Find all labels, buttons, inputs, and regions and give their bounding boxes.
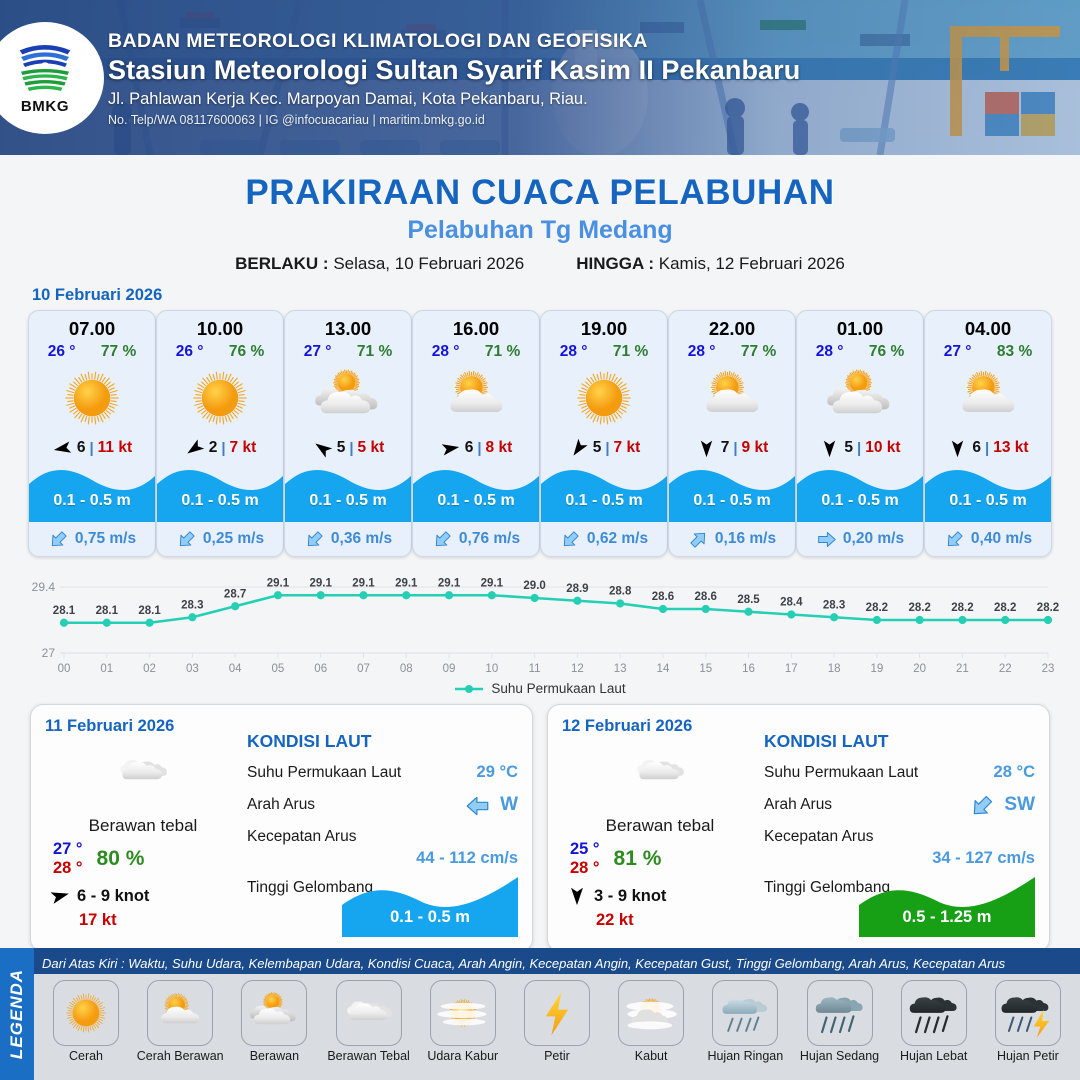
card-wave-height: 0.1 - 0.5 m bbox=[29, 492, 155, 510]
wind-separator: | bbox=[857, 440, 861, 457]
daily-temp-hum-row: 27 ° 28 ° 80 % bbox=[45, 840, 241, 878]
legend-item: Berawan Tebal bbox=[323, 980, 415, 1064]
sst-label: Suhu Permukaan Laut bbox=[764, 764, 918, 782]
wind-separator: | bbox=[733, 440, 737, 457]
card-temperature: 28 ° bbox=[560, 343, 588, 361]
svg-text:22: 22 bbox=[999, 663, 1012, 675]
legend-berawan-tebal-icon bbox=[336, 980, 402, 1046]
card-temperature: 26 ° bbox=[48, 343, 76, 361]
card-wave-height: 0.1 - 0.5 m bbox=[925, 492, 1051, 510]
sst-value: 29 °C bbox=[477, 763, 518, 782]
card-current-speed: 0,40 m/s bbox=[971, 530, 1032, 548]
wind-direction-arrow-icon bbox=[819, 438, 840, 459]
card-current-row: 0,16 m/s bbox=[669, 522, 795, 556]
legend-item: Hujan Sedang bbox=[794, 980, 886, 1064]
daily-sea-column: KONDISI LAUT Suhu Permukaan Laut 28 °C A… bbox=[758, 717, 1035, 939]
agency-name: BADAN METEOROLOGI KLIMATOLOGI DAN GEOFIS… bbox=[108, 30, 800, 53]
sst-label: Suhu Permukaan Laut bbox=[247, 764, 401, 782]
daily-date: 12 Februari 2026 bbox=[562, 717, 758, 736]
card-weather-berawan-icon bbox=[285, 362, 411, 434]
card-current-row: 0,20 m/s bbox=[797, 522, 923, 556]
card-wave-block: 0.1 - 0.5 m bbox=[29, 462, 155, 522]
legend-item-label: Kabut bbox=[635, 1050, 668, 1064]
legend-tab-label: LEGENDA bbox=[7, 969, 27, 1059]
svg-text:28.3: 28.3 bbox=[181, 599, 203, 611]
card-wind-row: 5 | 5 kt bbox=[285, 434, 411, 462]
card-wave-block: 0.1 - 0.5 m bbox=[157, 462, 283, 522]
svg-text:10: 10 bbox=[485, 663, 498, 675]
card-temp-hum-row: 27 ° 83 % bbox=[925, 340, 1051, 361]
card-humidity: 76 % bbox=[229, 343, 264, 361]
daily-current-direction-arrow-icon bbox=[969, 793, 999, 817]
card-time: 10.00 bbox=[157, 311, 283, 340]
svg-text:03: 03 bbox=[186, 663, 199, 675]
legend-item: Petir bbox=[511, 980, 603, 1064]
svg-text:28.1: 28.1 bbox=[53, 605, 76, 617]
legend-kabut-icon bbox=[618, 980, 684, 1046]
daily-temp-col: 27 ° 28 ° bbox=[53, 840, 83, 878]
card-current-speed: 0,36 m/s bbox=[331, 530, 392, 548]
legend-hujan-lebat-icon bbox=[901, 980, 967, 1046]
daily-summary-panel: 11 Februari 2026 Berawan tebal 27 ° 28 ° bbox=[30, 704, 533, 952]
hourly-card: 10.00 26 ° 76 % 2 | 7 kt bbox=[156, 310, 284, 557]
daily-temp-col: 25 ° 28 ° bbox=[570, 840, 600, 878]
daily-wave-block: 0.5 - 1.25 m bbox=[859, 871, 1035, 937]
card-wave-block: 0.1 - 0.5 m bbox=[669, 462, 795, 522]
card-wave-height: 0.1 - 0.5 m bbox=[541, 492, 667, 510]
bmkg-logo-text: BMKG bbox=[21, 98, 69, 115]
legend-hujan-sedang-icon bbox=[807, 980, 873, 1046]
daily-wind-gust: 22 kt bbox=[562, 911, 758, 930]
legend-cerah-icon bbox=[53, 980, 119, 1046]
sea-conditions-title: KONDISI LAUT bbox=[247, 731, 518, 752]
wind-separator: | bbox=[985, 440, 989, 457]
svg-text:18: 18 bbox=[828, 663, 841, 675]
card-wind-scale: 6 bbox=[972, 439, 981, 457]
legend-item-label: Hujan Petir bbox=[997, 1050, 1059, 1064]
card-humidity: 71 % bbox=[613, 343, 648, 361]
legend-items: Cerah Cerah Berawan bbox=[34, 980, 1080, 1064]
legend-item-label: Hujan Lebat bbox=[900, 1050, 967, 1064]
card-temperature: 27 ° bbox=[944, 343, 972, 361]
svg-text:17: 17 bbox=[785, 663, 798, 675]
card-wave-height: 0.1 - 0.5 m bbox=[285, 492, 411, 510]
legend-item-label: Cerah bbox=[69, 1050, 103, 1064]
current-speed-label: Kecepatan Arus bbox=[247, 828, 356, 846]
sea-row-current-dir: Arah Arus W bbox=[247, 793, 518, 817]
hourly-card: 19.00 28 ° 71 % 5 | 7 kt bbox=[540, 310, 668, 557]
legend-udara-kabur-icon bbox=[430, 980, 496, 1046]
sea-row-current-speed: Kecepatan Arus bbox=[764, 828, 1035, 846]
legend-item-label: Udara Kabur bbox=[427, 1050, 498, 1064]
sea-row-sst: Suhu Permukaan Laut 28 °C bbox=[764, 763, 1035, 782]
current-direction-arrow-icon bbox=[816, 529, 837, 550]
wind-direction-arrow-icon bbox=[696, 438, 717, 459]
card-wind-row: 5 | 7 kt bbox=[541, 434, 667, 462]
card-wave-block: 0.1 - 0.5 m bbox=[541, 462, 667, 522]
card-current-speed: 0,20 m/s bbox=[843, 530, 904, 548]
card-wind-gust: 7 kt bbox=[230, 439, 257, 457]
card-temperature: 27 ° bbox=[304, 343, 332, 361]
berlaku-value: Selasa, 10 Februari 2026 bbox=[333, 254, 524, 273]
card-wind-scale: 6 bbox=[77, 439, 86, 457]
current-direction-arrow-icon bbox=[48, 529, 69, 550]
hingga-group: HINGGA : Kamis, 12 Februari 2026 bbox=[576, 254, 845, 274]
svg-text:29.4: 29.4 bbox=[32, 580, 56, 594]
current-direction-label: Arah Arus bbox=[764, 796, 832, 814]
legend-note: Dari Atas Kiri : Waktu, Suhu Udara, Kele… bbox=[42, 956, 1005, 971]
card-wind-row: 2 | 7 kt bbox=[157, 434, 283, 462]
current-direction-arrow-icon bbox=[432, 529, 453, 550]
legend-hujan-ringan-icon bbox=[712, 980, 778, 1046]
svg-text:06: 06 bbox=[314, 663, 327, 675]
current-direction-arrow-icon bbox=[176, 529, 197, 550]
card-weather-cerah-berawan-icon bbox=[413, 362, 539, 434]
hourly-card: 16.00 28 ° 71 % 6 | 8 kt bbox=[412, 310, 540, 557]
card-wind-scale: 5 bbox=[337, 439, 346, 457]
daily-wave-block: 0.1 - 0.5 m bbox=[342, 871, 518, 937]
card-time: 19.00 bbox=[541, 311, 667, 340]
hingga-label: HINGGA : bbox=[576, 254, 654, 273]
card-time: 16.00 bbox=[413, 311, 539, 340]
daily-wave-height: 0.1 - 0.5 m bbox=[342, 908, 518, 927]
svg-text:29.1: 29.1 bbox=[395, 577, 418, 589]
svg-text:28.4: 28.4 bbox=[780, 597, 803, 609]
card-temp-hum-row: 28 ° 71 % bbox=[541, 340, 667, 361]
card-wave-height: 0.1 - 0.5 m bbox=[157, 492, 283, 510]
card-current-speed: 0,16 m/s bbox=[715, 530, 776, 548]
svg-text:20: 20 bbox=[913, 663, 926, 675]
card-time: 04.00 bbox=[925, 311, 1051, 340]
daily-temp-hum-row: 25 ° 28 ° 81 % bbox=[562, 840, 758, 878]
hourly-card: 07.00 26 ° 77 % 6 | 11 kt bbox=[28, 310, 156, 557]
legend-item-label: Berawan bbox=[250, 1050, 299, 1064]
daily-wind-range: 6 - 9 knot bbox=[77, 887, 149, 906]
berlaku-label: BERLAKU : bbox=[235, 254, 329, 273]
svg-text:14: 14 bbox=[657, 663, 670, 675]
card-weather-cerah-icon bbox=[157, 362, 283, 434]
daily-left-column: 12 Februari 2026 Berawan tebal 25 ° 28 ° bbox=[562, 717, 758, 939]
wind-separator: | bbox=[89, 440, 93, 457]
legend-tab: LEGENDA bbox=[0, 948, 34, 1080]
svg-text:19: 19 bbox=[870, 663, 883, 675]
sea-row-current-speed: Kecepatan Arus bbox=[247, 828, 518, 846]
daily-weather-berawan-tebal-icon bbox=[562, 742, 758, 802]
card-current-speed: 0,25 m/s bbox=[203, 530, 264, 548]
card-temperature: 26 ° bbox=[176, 343, 204, 361]
legend-hujan-petir-icon bbox=[995, 980, 1061, 1046]
daily-wind-direction-arrow-icon bbox=[566, 885, 588, 907]
sst-chart-svg: 29.4270001020304050607080910111213141516… bbox=[18, 571, 1062, 679]
daily-current-direction-arrow-icon bbox=[465, 793, 495, 817]
card-weather-cerah-icon bbox=[29, 362, 155, 434]
svg-text:15: 15 bbox=[699, 663, 712, 675]
daily-sea-column: KONDISI LAUT Suhu Permukaan Laut 29 °C A… bbox=[241, 717, 518, 939]
hourly-forecast-row: 07.00 26 ° 77 % 6 | 11 kt bbox=[0, 310, 1080, 557]
current-direction-value: SW bbox=[1004, 794, 1035, 816]
svg-text:23: 23 bbox=[1042, 663, 1055, 675]
card-wave-block: 0.1 - 0.5 m bbox=[797, 462, 923, 522]
card-weather-cerah-icon bbox=[541, 362, 667, 434]
page-title: PRAKIRAAN CUACA PELABUHAN bbox=[0, 173, 1080, 213]
bmkg-logo-mark bbox=[11, 41, 79, 97]
legend-item-label: Hujan Ringan bbox=[707, 1050, 783, 1064]
svg-text:00: 00 bbox=[58, 663, 71, 675]
card-temp-hum-row: 26 ° 77 % bbox=[29, 340, 155, 361]
legend-strip: LEGENDA Dari Atas Kiri : Waktu, Suhu Uda… bbox=[0, 948, 1080, 1080]
card-wind-gust: 9 kt bbox=[742, 439, 769, 457]
svg-text:13: 13 bbox=[614, 663, 627, 675]
svg-text:28.1: 28.1 bbox=[96, 605, 119, 617]
daily-wind-row: 3 - 9 knot bbox=[562, 885, 758, 907]
station-name: Stasiun Meteorologi Sultan Syarif Kasim … bbox=[108, 55, 800, 86]
daily-wind-direction-arrow-icon bbox=[49, 885, 71, 907]
svg-text:07: 07 bbox=[357, 663, 370, 675]
card-humidity: 83 % bbox=[997, 343, 1032, 361]
wind-direction-arrow-icon bbox=[52, 438, 73, 459]
berlaku-group: BERLAKU : Selasa, 10 Februari 2026 bbox=[235, 254, 524, 274]
svg-text:29.1: 29.1 bbox=[352, 577, 375, 589]
hourly-date-label: 10 Februari 2026 bbox=[32, 286, 1080, 305]
card-humidity: 71 % bbox=[485, 343, 520, 361]
daily-summary-panel: 12 Februari 2026 Berawan tebal 25 ° 28 ° bbox=[547, 704, 1050, 952]
card-humidity: 76 % bbox=[869, 343, 904, 361]
card-humidity: 77 % bbox=[101, 343, 136, 361]
current-direction-label: Arah Arus bbox=[247, 796, 315, 814]
card-wave-block: 0.1 - 0.5 m bbox=[285, 462, 411, 522]
svg-text:29.1: 29.1 bbox=[310, 577, 333, 589]
svg-text:28.8: 28.8 bbox=[609, 586, 632, 598]
wind-separator: | bbox=[221, 440, 225, 457]
card-wind-gust: 5 kt bbox=[358, 439, 385, 457]
legend-item: Udara Kabur bbox=[417, 980, 509, 1064]
hourly-card: 04.00 27 ° 83 % 6 | 13 kt bbox=[924, 310, 1052, 557]
legend-item: Hujan Petir bbox=[982, 980, 1074, 1064]
svg-text:28.2: 28.2 bbox=[951, 602, 973, 614]
card-current-speed: 0,76 m/s bbox=[459, 530, 520, 548]
current-direction-arrow-icon bbox=[304, 529, 325, 550]
svg-text:28.2: 28.2 bbox=[1037, 602, 1059, 614]
current-direction-arrow-icon bbox=[944, 529, 965, 550]
legend-line-marker-icon bbox=[454, 683, 484, 695]
card-temp-hum-row: 28 ° 76 % bbox=[797, 340, 923, 361]
card-weather-cerah-berawan-icon bbox=[925, 362, 1051, 434]
svg-text:16: 16 bbox=[742, 663, 755, 675]
card-current-row: 0,36 m/s bbox=[285, 522, 411, 556]
current-direction-arrow-icon bbox=[560, 529, 581, 550]
daily-summary-row: 11 Februari 2026 Berawan tebal 27 ° 28 ° bbox=[0, 696, 1080, 952]
card-wind-row: 6 | 8 kt bbox=[413, 434, 539, 462]
daily-wind-range: 3 - 9 knot bbox=[594, 887, 666, 906]
validity-row: BERLAKU : Selasa, 10 Februari 2026 HINGG… bbox=[0, 254, 1080, 274]
sst-value: 28 °C bbox=[994, 763, 1035, 782]
card-wind-gust: 10 kt bbox=[865, 439, 900, 457]
daily-temp-min: 27 ° bbox=[53, 840, 83, 859]
card-temp-hum-row: 27 ° 71 % bbox=[285, 340, 411, 361]
legend-item: Cerah bbox=[40, 980, 132, 1064]
header-text-block: BADAN METEOROLOGI KLIMATOLOGI DAN GEOFIS… bbox=[108, 30, 800, 127]
card-weather-cerah-berawan-icon bbox=[669, 362, 795, 434]
svg-text:28.6: 28.6 bbox=[652, 591, 674, 603]
sea-row-current-dir: Arah Arus SW bbox=[764, 793, 1035, 817]
wind-separator: | bbox=[477, 440, 481, 457]
daily-temp-min: 25 ° bbox=[570, 840, 600, 859]
svg-text:12: 12 bbox=[571, 663, 584, 675]
card-wind-row: 7 | 9 kt bbox=[669, 434, 795, 462]
current-direction-arrow-icon bbox=[688, 529, 709, 550]
svg-text:28.7: 28.7 bbox=[224, 588, 246, 600]
svg-text:05: 05 bbox=[272, 663, 285, 675]
daily-condition: Berawan tebal bbox=[562, 816, 758, 836]
card-wind-gust: 11 kt bbox=[98, 439, 132, 457]
card-current-row: 0,40 m/s bbox=[925, 522, 1051, 556]
card-humidity: 77 % bbox=[741, 343, 776, 361]
legend-item: Hujan Lebat bbox=[888, 980, 980, 1064]
current-speed-value: 44 - 112 cm/s bbox=[247, 849, 518, 868]
card-wave-height: 0.1 - 0.5 m bbox=[413, 492, 539, 510]
svg-text:02: 02 bbox=[143, 663, 156, 675]
card-wind-scale: 2 bbox=[209, 439, 218, 457]
legend-item: Cerah Berawan bbox=[134, 980, 226, 1064]
svg-text:28.5: 28.5 bbox=[737, 594, 760, 606]
card-humidity: 71 % bbox=[357, 343, 392, 361]
card-time: 01.00 bbox=[797, 311, 923, 340]
legend-item-label: Berawan Tebal bbox=[327, 1050, 409, 1064]
card-temp-hum-row: 26 ° 76 % bbox=[157, 340, 283, 361]
wind-direction-arrow-icon bbox=[568, 438, 589, 459]
card-wind-gust: 8 kt bbox=[486, 439, 513, 457]
svg-text:01: 01 bbox=[100, 663, 113, 675]
daily-temp-max: 28 ° bbox=[570, 859, 600, 878]
card-temperature: 28 ° bbox=[688, 343, 716, 361]
card-wave-height: 0.1 - 0.5 m bbox=[797, 492, 923, 510]
chart-legend-label: Suhu Permukaan Laut bbox=[491, 681, 625, 696]
legend-cerah-berawan-icon bbox=[147, 980, 213, 1046]
svg-text:28.6: 28.6 bbox=[695, 591, 717, 603]
daily-wave-shape-icon bbox=[342, 871, 518, 937]
hourly-card: 22.00 28 ° 77 % 7 | 9 kt bbox=[668, 310, 796, 557]
card-wave-block: 0.1 - 0.5 m bbox=[413, 462, 539, 522]
card-current-speed: 0,75 m/s bbox=[75, 530, 136, 548]
current-speed-value: 34 - 127 cm/s bbox=[764, 849, 1035, 868]
card-temp-hum-row: 28 ° 77 % bbox=[669, 340, 795, 361]
card-wave-block: 0.1 - 0.5 m bbox=[925, 462, 1051, 522]
daily-wind-row: 6 - 9 knot bbox=[45, 885, 241, 907]
daily-condition: Berawan tebal bbox=[45, 816, 241, 836]
page-subtitle: Pelabuhan Tg Medang bbox=[0, 216, 1080, 245]
daily-wave-shape-icon bbox=[859, 871, 1035, 937]
daily-wind-gust: 17 kt bbox=[45, 911, 241, 930]
svg-text:21: 21 bbox=[956, 663, 969, 675]
card-wind-row: 5 | 10 kt bbox=[797, 434, 923, 462]
wind-direction-arrow-icon bbox=[184, 438, 205, 459]
card-time: 22.00 bbox=[669, 311, 795, 340]
sst-chart: 29.4270001020304050607080910111213141516… bbox=[18, 571, 1062, 679]
daily-humidity: 81 % bbox=[614, 847, 662, 871]
card-temp-hum-row: 28 ° 71 % bbox=[413, 340, 539, 361]
svg-text:27: 27 bbox=[42, 646, 56, 660]
current-direction-value: W bbox=[500, 794, 518, 816]
station-address: Jl. Pahlawan Kerja Kec. Marpoyan Damai, … bbox=[108, 90, 800, 109]
card-wind-gust: 7 kt bbox=[614, 439, 641, 457]
wind-direction-arrow-icon bbox=[312, 438, 333, 459]
daily-weather-berawan-tebal-icon bbox=[45, 742, 241, 802]
svg-text:29.1: 29.1 bbox=[438, 577, 461, 589]
card-wind-row: 6 | 11 kt bbox=[29, 434, 155, 462]
hourly-card: 13.00 27 ° 71 % 5 | 5 kt bbox=[284, 310, 412, 557]
card-wave-height: 0.1 - 0.5 m bbox=[669, 492, 795, 510]
legend-item-label: Petir bbox=[544, 1050, 570, 1064]
card-wind-scale: 5 bbox=[593, 439, 602, 457]
svg-text:28.2: 28.2 bbox=[908, 602, 930, 614]
legend-item: Berawan bbox=[228, 980, 320, 1064]
card-wind-scale: 7 bbox=[721, 439, 730, 457]
current-direction-value-group: SW bbox=[969, 793, 1035, 817]
daily-temp-max: 28 ° bbox=[53, 859, 83, 878]
card-weather-berawan-icon bbox=[797, 362, 923, 434]
card-current-row: 0,76 m/s bbox=[413, 522, 539, 556]
card-current-row: 0,25 m/s bbox=[157, 522, 283, 556]
wind-direction-arrow-icon bbox=[440, 438, 461, 459]
legend-item-label: Hujan Sedang bbox=[800, 1050, 879, 1064]
svg-text:28.2: 28.2 bbox=[866, 602, 888, 614]
svg-text:29.1: 29.1 bbox=[267, 577, 290, 589]
hingga-value: Kamis, 12 Februari 2026 bbox=[659, 254, 845, 273]
svg-text:08: 08 bbox=[400, 663, 413, 675]
card-wind-scale: 5 bbox=[844, 439, 853, 457]
wind-separator: | bbox=[605, 440, 609, 457]
wind-direction-arrow-icon bbox=[947, 438, 968, 459]
hourly-card: 01.00 28 ° 76 % 5 | 10 kt bbox=[796, 310, 924, 557]
svg-text:28.3: 28.3 bbox=[823, 599, 845, 611]
card-current-speed: 0,62 m/s bbox=[587, 530, 648, 548]
daily-humidity: 80 % bbox=[97, 847, 145, 871]
current-direction-value-group: W bbox=[465, 793, 518, 817]
card-temperature: 28 ° bbox=[432, 343, 460, 361]
sea-row-sst: Suhu Permukaan Laut 29 °C bbox=[247, 763, 518, 782]
daily-date: 11 Februari 2026 bbox=[45, 717, 241, 736]
svg-text:28.1: 28.1 bbox=[138, 605, 161, 617]
legend-berawan-icon bbox=[241, 980, 307, 1046]
legend-item-label: Cerah Berawan bbox=[137, 1050, 224, 1064]
legend-item: Hujan Ringan bbox=[699, 980, 791, 1064]
page-header: BMKG BADAN METEOROLOGI KLIMATOLOGI DAN G… bbox=[0, 0, 1080, 155]
card-current-row: 0,62 m/s bbox=[541, 522, 667, 556]
card-temperature: 28 ° bbox=[816, 343, 844, 361]
svg-text:29.1: 29.1 bbox=[481, 577, 504, 589]
station-contact: No. Telp/WA 08117600063 | IG @infocuacar… bbox=[108, 113, 800, 127]
legend-item: Kabut bbox=[605, 980, 697, 1064]
svg-text:11: 11 bbox=[529, 663, 541, 675]
svg-text:28.2: 28.2 bbox=[994, 602, 1016, 614]
svg-text:09: 09 bbox=[443, 663, 456, 675]
svg-text:29.0: 29.0 bbox=[523, 580, 545, 592]
current-speed-label: Kecepatan Arus bbox=[764, 828, 873, 846]
svg-text:28.9: 28.9 bbox=[566, 583, 588, 595]
title-block: PRAKIRAAN CUACA PELABUHAN Pelabuhan Tg M… bbox=[0, 173, 1080, 274]
legend-petir-icon bbox=[524, 980, 590, 1046]
card-time: 07.00 bbox=[29, 311, 155, 340]
card-current-row: 0,75 m/s bbox=[29, 522, 155, 556]
card-wind-scale: 6 bbox=[465, 439, 474, 457]
daily-wave-height: 0.5 - 1.25 m bbox=[859, 908, 1035, 927]
daily-left-column: 11 Februari 2026 Berawan tebal 27 ° 28 ° bbox=[45, 717, 241, 939]
wind-separator: | bbox=[349, 440, 353, 457]
card-wind-gust: 13 kt bbox=[993, 439, 1028, 457]
card-time: 13.00 bbox=[285, 311, 411, 340]
card-wind-row: 6 | 13 kt bbox=[925, 434, 1051, 462]
svg-text:04: 04 bbox=[229, 663, 242, 675]
